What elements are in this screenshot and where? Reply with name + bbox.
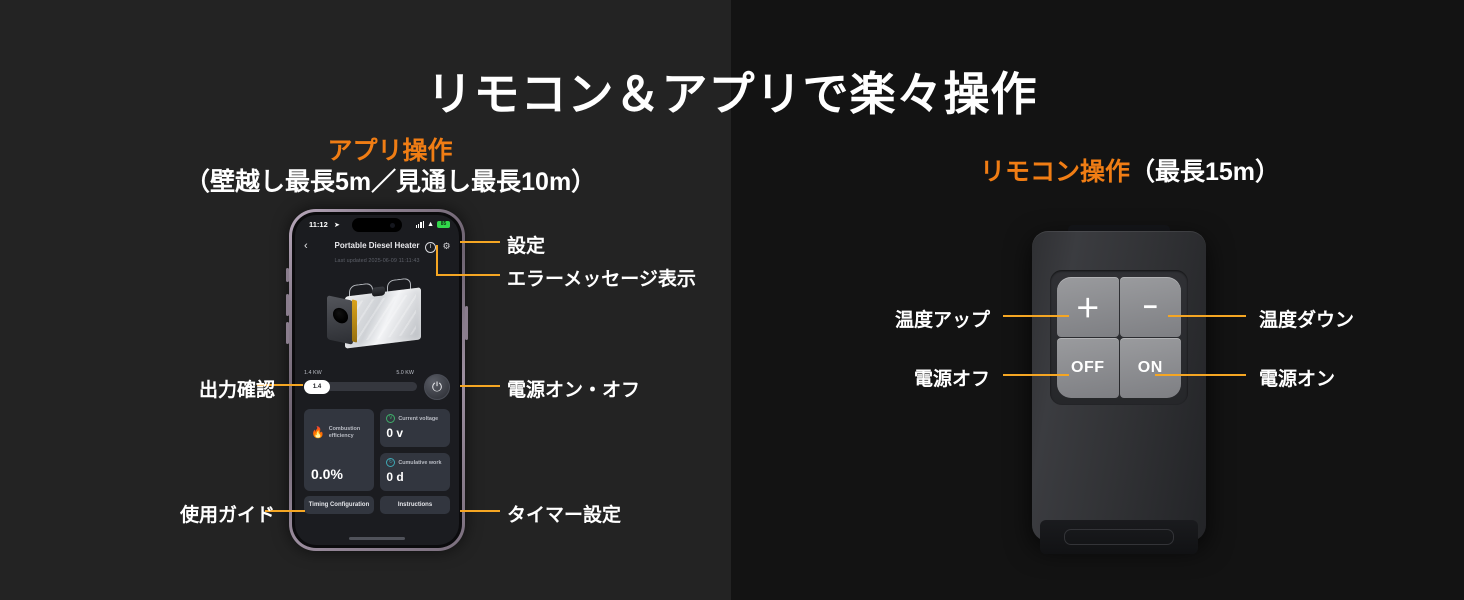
annotation-error-message: エラーメッセージ表示	[507, 264, 696, 291]
phone-power-button	[465, 306, 468, 340]
voltage-card-header: V Current voltage	[386, 414, 444, 423]
app-heading-accent: アプリ操作	[185, 136, 595, 167]
app-nav-bar: ‹ Portable Diesel Heater i ⚙	[295, 239, 459, 255]
info-glyph: i	[426, 243, 435, 252]
clock-icon: ↻	[386, 458, 395, 467]
cellular-bars-icon	[416, 221, 425, 228]
cumulative-label: Cumulative work	[398, 460, 441, 466]
remote-bottom-cap	[1040, 520, 1198, 554]
leader-power-off	[1003, 374, 1069, 376]
leader-timer-setting	[460, 510, 500, 512]
status-indicators: ▲ 85	[416, 221, 451, 228]
power-toggle-button[interactable]: ⏻	[424, 374, 450, 400]
annotation-power-off: 電源オフ	[830, 364, 990, 391]
annotation-settings: 設定	[507, 231, 545, 258]
timing-configuration-button[interactable]: Timing Configuration	[304, 496, 374, 514]
battery-level-label: 85	[437, 221, 450, 228]
flame-icon: 🔥	[311, 428, 325, 439]
remote-heading-accent: リモコン操作	[980, 158, 1130, 186]
voltage-value: 0 v	[386, 426, 444, 440]
battery-icon: 85	[437, 221, 450, 228]
stats-card-group: 🔥 Combustion efficiency 0.0% V Current v…	[304, 409, 450, 491]
annotation-usage-guide: 使用ガイド	[95, 500, 275, 527]
location-arrow-icon: ➤	[334, 221, 340, 229]
wifi-icon: ▲	[427, 221, 434, 228]
heater-air-outlet	[333, 307, 348, 325]
product-image-area	[295, 268, 459, 368]
remote-control-mockup: ＋ − OFF ON	[1032, 231, 1206, 541]
phone-mute-switch	[286, 268, 289, 282]
phone-screen: 11:12 ➤ ▲ 85 ‹ Portable Diesel Heater i …	[295, 215, 459, 545]
power-slider-row: 1.4 KW 5.0 KW 1.4 ⏻	[304, 370, 450, 404]
cumulative-value: 0 d	[386, 470, 444, 484]
slider-min-label: 1.4 KW	[304, 370, 322, 376]
infographic-canvas: リモコン＆アプリで楽々操作 アプリ操作 （壁越し最長5m／見通し最長10m） リ…	[0, 0, 1464, 600]
last-updated-text: Last updated 2025-06-09 11:11:43	[295, 258, 459, 264]
portable-diesel-heater-photo	[325, 278, 429, 350]
remote-section-heading: リモコン操作（最長15m）	[930, 157, 1330, 188]
leader-settings	[460, 241, 500, 243]
leader-power-on	[1155, 374, 1246, 376]
voltage-glyph: V	[387, 415, 394, 422]
voltage-icon: V	[386, 414, 395, 423]
dynamic-island	[352, 218, 402, 232]
remote-heading-sub: （最長15m）	[1130, 158, 1280, 186]
phone-volume-down-button	[286, 322, 289, 344]
combustion-efficiency-card: 🔥 Combustion efficiency 0.0%	[304, 409, 374, 491]
main-title: リモコン＆アプリで楽々操作	[0, 58, 1464, 124]
status-bar: 11:12 ➤ ▲ 85	[295, 215, 459, 235]
annotation-timer-setting: タイマー設定	[507, 500, 621, 527]
heater-front-panel	[327, 295, 353, 345]
stats-card-column: V Current voltage 0 v ↻ Cumulative work …	[380, 409, 450, 491]
leader-error-message-vertical	[436, 245, 438, 276]
slider-max-label: 5.0 KW	[396, 370, 414, 376]
leader-temp-up	[1003, 315, 1069, 317]
annotation-power-on: 電源オン	[1259, 364, 1335, 391]
remote-button-pad: ＋ − OFF ON	[1050, 270, 1188, 405]
phone-volume-up-button	[286, 294, 289, 316]
annotation-power-on-off: 電源オン・オフ	[507, 375, 640, 402]
front-camera-icon	[390, 223, 395, 228]
combustion-label: Combustion efficiency	[329, 426, 368, 441]
remote-lanyard-slot	[1064, 529, 1174, 545]
leader-temp-down	[1168, 315, 1246, 317]
instructions-button[interactable]: Instructions	[380, 496, 450, 514]
remote-off-button[interactable]: OFF	[1057, 338, 1119, 398]
clock-glyph: ↻	[387, 459, 394, 466]
info-circle-icon[interactable]: i	[425, 242, 436, 253]
power-icon: ⏻	[425, 375, 449, 399]
gear-icon[interactable]: ⚙	[442, 242, 451, 251]
annotation-temp-down: 温度ダウン	[1259, 305, 1354, 332]
combustion-value: 0.0%	[311, 466, 343, 482]
remote-on-button[interactable]: ON	[1120, 338, 1182, 398]
app-heading-sub: （壁越し最長5m／見通し最長10m）	[185, 167, 595, 198]
combustion-card-header: 🔥 Combustion efficiency	[311, 426, 367, 441]
voltage-label: Current voltage	[398, 416, 438, 422]
leader-power-on-off	[460, 385, 500, 387]
phone-mockup: 11:12 ➤ ▲ 85 ‹ Portable Diesel Heater i …	[289, 209, 465, 551]
home-indicator	[349, 537, 405, 540]
action-button-row: Timing Configuration Instructions	[304, 496, 450, 514]
annotation-temp-up: 温度アップ	[830, 305, 990, 332]
status-time: 11:12	[309, 220, 328, 229]
annotation-output-check: 出力確認	[110, 375, 275, 402]
nav-action-icons: i ⚙	[425, 242, 451, 253]
heater-fuel-cap	[372, 286, 385, 297]
cumulative-work-card: ↻ Cumulative work 0 d	[380, 453, 450, 491]
current-voltage-card: V Current voltage 0 v	[380, 409, 450, 447]
heater-side-strip	[352, 299, 357, 342]
power-slider-thumb[interactable]: 1.4	[304, 380, 330, 394]
cumulative-card-header: ↻ Cumulative work	[386, 458, 444, 467]
app-section-heading: アプリ操作 （壁越し最長5m／見通し最長10m）	[185, 136, 595, 199]
remote-plus-button[interactable]: ＋	[1057, 277, 1119, 337]
leader-error-message	[436, 274, 500, 276]
remote-button-grid: ＋ − OFF ON	[1057, 277, 1181, 398]
remote-minus-button[interactable]: −	[1120, 277, 1182, 337]
